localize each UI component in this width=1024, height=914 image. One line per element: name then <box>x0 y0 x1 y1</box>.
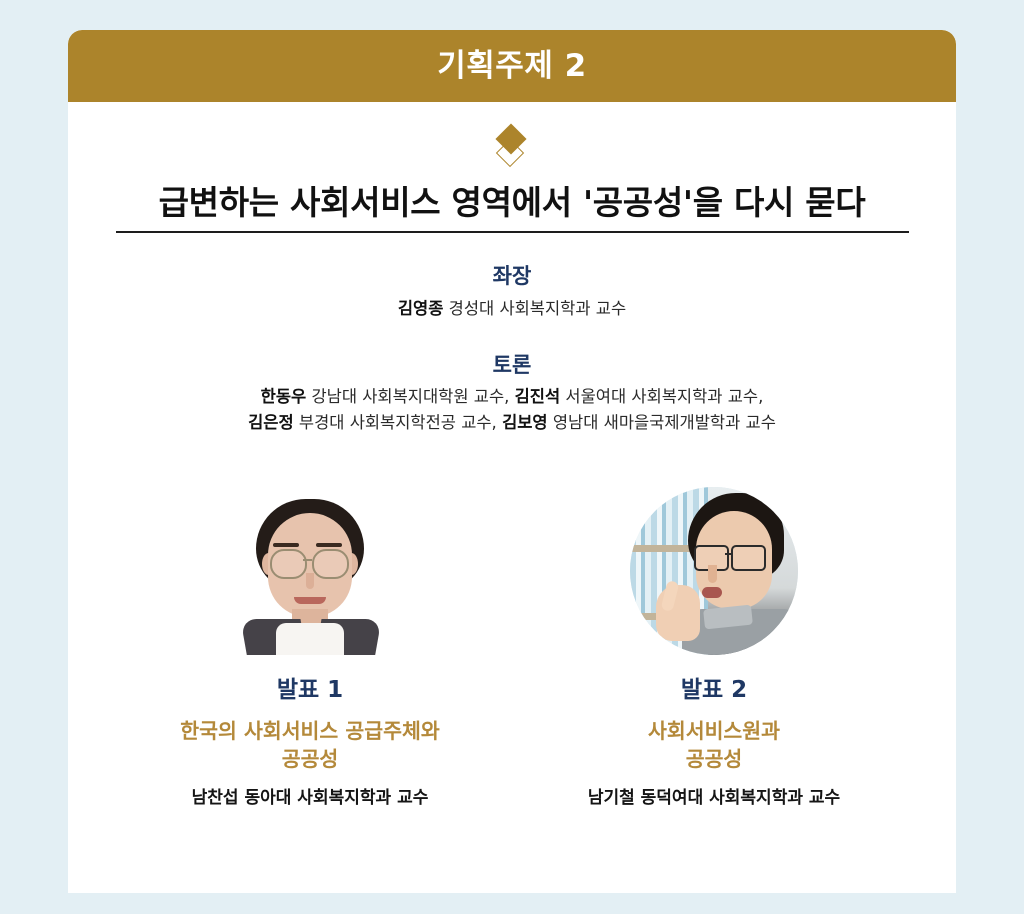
portrait-shirt <box>276 623 344 655</box>
portrait-nose <box>708 565 717 583</box>
presentation-2-presenter-affiliation: 동덕여대 사회복지학과 교수 <box>641 788 841 808</box>
chair-section: 좌장 김영종 경성대 사회복지학과 교수 <box>68 263 956 321</box>
presentation-1-title: 한국의 사회서비스 공급주체와 공공성 <box>108 717 512 774</box>
portrait-brow-right <box>316 543 342 547</box>
presentation-2-label: 발표 2 <box>512 677 916 705</box>
presentation-1-presenter: 남찬섭 동아대 사회복지학과 교수 <box>108 787 512 809</box>
speaker-photo-nam-chanseop <box>226 487 394 655</box>
discussant-1-name: 한동우 <box>261 387 307 406</box>
double-diamond-ornament <box>490 128 534 174</box>
presentation-1-title-line-2: 공공성 <box>108 745 512 773</box>
session-title: 급변하는 사회서비스 영역에서 '공공성'을 다시 묻다 <box>68 182 956 223</box>
presentation-2-presenter-name: 남기철 <box>588 788 635 808</box>
portrait-eyeglass-right <box>731 545 766 571</box>
portrait-brow-left <box>273 543 299 547</box>
discussion-people: 한동우 강남대 사회복지대학원 교수, 김진석 서울여대 사회복지학과 교수, … <box>68 384 956 436</box>
presentation-1-presenter-name: 남찬섭 <box>192 788 239 808</box>
discussion-heading: 토론 <box>68 352 956 379</box>
discussant-4-name: 김보영 <box>502 413 548 432</box>
discussant-2-affiliation: 서울여대 사회복지학과 교수, <box>565 387 763 406</box>
portrait-eyeglass-right <box>312 549 349 579</box>
discussant-line-2: 김은정 부경대 사회복지학전공 교수, 김보영 영남대 새마을국제개발학과 교수 <box>68 410 956 436</box>
discussant-4-affiliation: 영남대 새마을국제개발학과 교수 <box>553 413 776 432</box>
presentation-2-title: 사회서비스원과 공공성 <box>512 717 916 774</box>
presentation-2-title-line-1: 사회서비스원과 <box>512 717 916 745</box>
chair-name: 김영종 <box>398 299 444 318</box>
discussant-2-name: 김진석 <box>515 387 561 406</box>
title-divider <box>116 231 909 233</box>
speaker-photo-nam-gicheol <box>630 487 798 655</box>
presentation-2-presenter: 남기철 동덕여대 사회복지학과 교수 <box>512 787 916 809</box>
session-card: 기획주제 2 급변하는 사회서비스 영역에서 '공공성'을 다시 묻다 좌장 김… <box>68 30 956 893</box>
presentation-card-2: 발표 2 사회서비스원과 공공성 남기철 동덕여대 사회복지학과 교수 <box>512 480 916 809</box>
discussant-line-1: 한동우 강남대 사회복지대학원 교수, 김진석 서울여대 사회복지학과 교수, <box>68 384 956 410</box>
card-header: 기획주제 2 <box>68 30 956 102</box>
presentation-1-title-line-1: 한국의 사회서비스 공급주체와 <box>108 717 512 745</box>
presentation-1-photo-wrap <box>108 480 512 655</box>
portrait-hand <box>656 585 700 641</box>
chair-people: 김영종 경성대 사회복지학과 교수 <box>68 296 956 322</box>
portrait-eyeglass-bridge <box>725 553 731 555</box>
presentations-section: 발표 1 한국의 사회서비스 공급주체와 공공성 남찬섭 동아대 사회복지학과 … <box>68 480 956 809</box>
presentation-card-1: 발표 1 한국의 사회서비스 공급주체와 공공성 남찬섭 동아대 사회복지학과 … <box>108 480 512 809</box>
discussant-3-name: 김은정 <box>248 413 294 432</box>
chair-affiliation: 경성대 사회복지학과 교수 <box>449 299 626 318</box>
chair-heading: 좌장 <box>68 263 956 290</box>
presentation-2-photo-wrap <box>512 480 916 655</box>
presentation-2-title-line-2: 공공성 <box>512 745 916 773</box>
portrait-mouth <box>294 597 326 604</box>
portrait-mouth <box>702 587 722 598</box>
discussant-3-affiliation: 부경대 사회복지학전공 교수, <box>299 413 497 432</box>
portrait-eyeglass-bridge <box>303 559 312 561</box>
discussion-section: 토론 한동우 강남대 사회복지대학원 교수, 김진석 서울여대 사회복지학과 교… <box>68 352 956 436</box>
card-body: 급변하는 사회서비스 영역에서 '공공성'을 다시 묻다 좌장 김영종 경성대 … <box>68 128 956 809</box>
portrait-nose <box>306 573 314 589</box>
card-header-title: 기획주제 2 <box>437 51 586 82</box>
portrait-eyeglass-left <box>270 549 307 579</box>
discussant-1-affiliation: 강남대 사회복지대학원 교수, <box>311 387 509 406</box>
presentation-1-presenter-affiliation: 동아대 사회복지학과 교수 <box>244 788 428 808</box>
presentation-1-label: 발표 1 <box>108 677 512 705</box>
